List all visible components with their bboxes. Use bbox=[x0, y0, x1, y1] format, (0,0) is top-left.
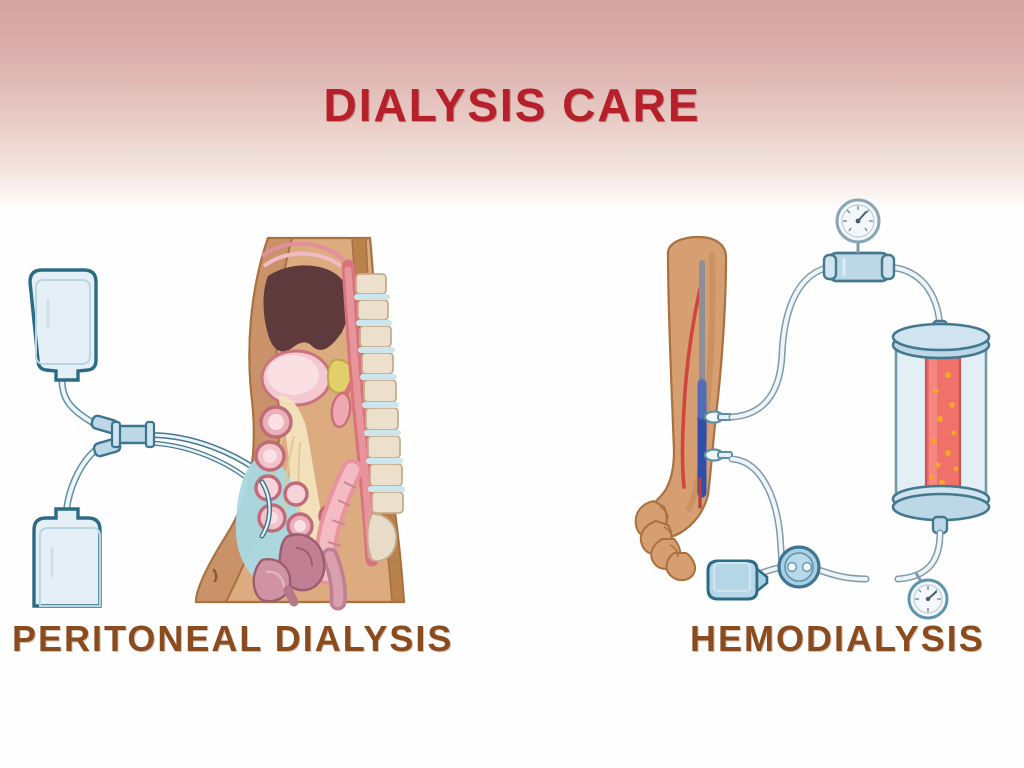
y-connector bbox=[112, 422, 154, 447]
blood-pump bbox=[779, 547, 819, 587]
caption-peritoneal-dialysis: PERITONEAL DIALYSIS bbox=[12, 618, 453, 660]
caption-hemodialysis: HEMODIALYSIS bbox=[690, 618, 985, 660]
fistula-needle-lower bbox=[705, 450, 732, 461]
slide-canvas: DIALYSIS CARE bbox=[0, 0, 1024, 768]
drip-chamber-top bbox=[824, 253, 894, 281]
hemodialysis-illustration bbox=[630, 195, 1024, 615]
forearm-with-fist bbox=[636, 237, 726, 580]
page-title: DIALYSIS CARE bbox=[0, 78, 1024, 132]
abdomen-cross-section bbox=[196, 238, 404, 602]
dialyzer bbox=[893, 321, 989, 533]
dialysate-bag-lower bbox=[34, 509, 100, 606]
pressure-gauge-bottom bbox=[909, 573, 947, 618]
pressure-gauge-top bbox=[837, 200, 879, 253]
fistula-needle-upper bbox=[705, 412, 732, 423]
dialysate-bag-upper bbox=[30, 270, 96, 380]
heparin-bottle bbox=[708, 561, 767, 599]
peritoneal-dialysis-illustration bbox=[0, 230, 500, 610]
